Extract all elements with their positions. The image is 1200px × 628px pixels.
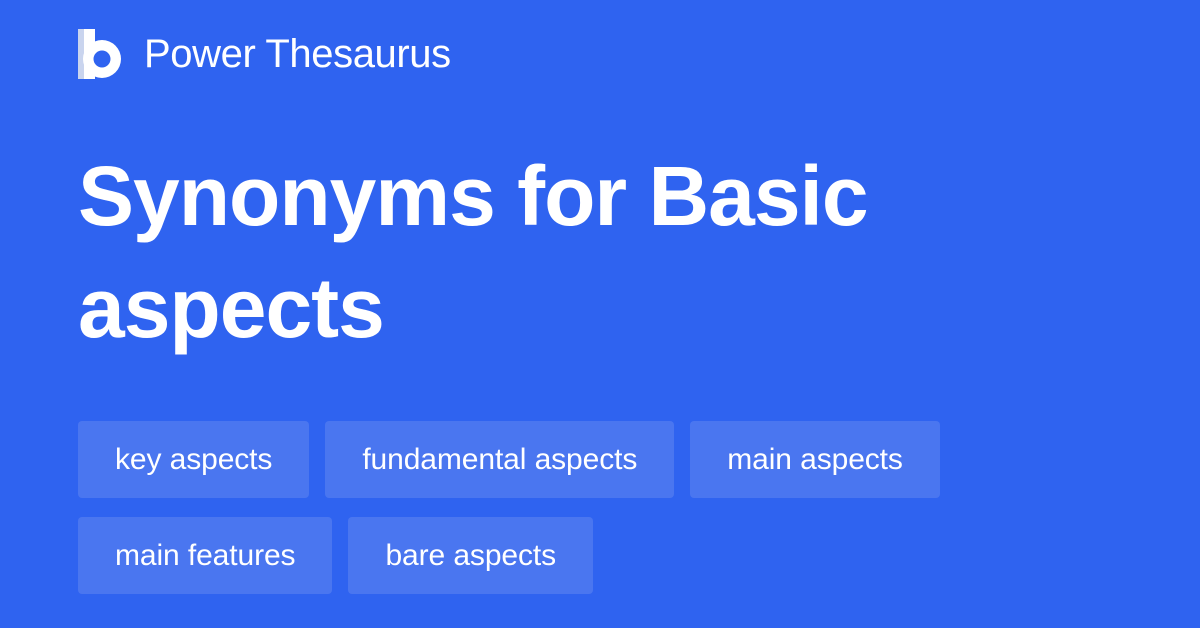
- brand-name: Power Thesaurus: [144, 30, 451, 78]
- synonym-chip[interactable]: main features: [78, 517, 332, 594]
- brand-header[interactable]: Power Thesaurus: [78, 28, 451, 80]
- synonym-chip[interactable]: bare aspects: [348, 517, 593, 594]
- share-card: Power Thesaurus Synonyms for Basic aspec…: [0, 0, 1200, 628]
- synonym-chip[interactable]: main aspects: [690, 421, 940, 498]
- synonym-chip-list: key aspects fundamental aspects main asp…: [78, 421, 1128, 594]
- power-thesaurus-b-logo-icon: [78, 29, 122, 79]
- synonym-chip[interactable]: fundamental aspects: [325, 421, 674, 498]
- synonym-chip[interactable]: key aspects: [78, 421, 309, 498]
- page-title: Synonyms for Basic aspects: [78, 140, 1118, 364]
